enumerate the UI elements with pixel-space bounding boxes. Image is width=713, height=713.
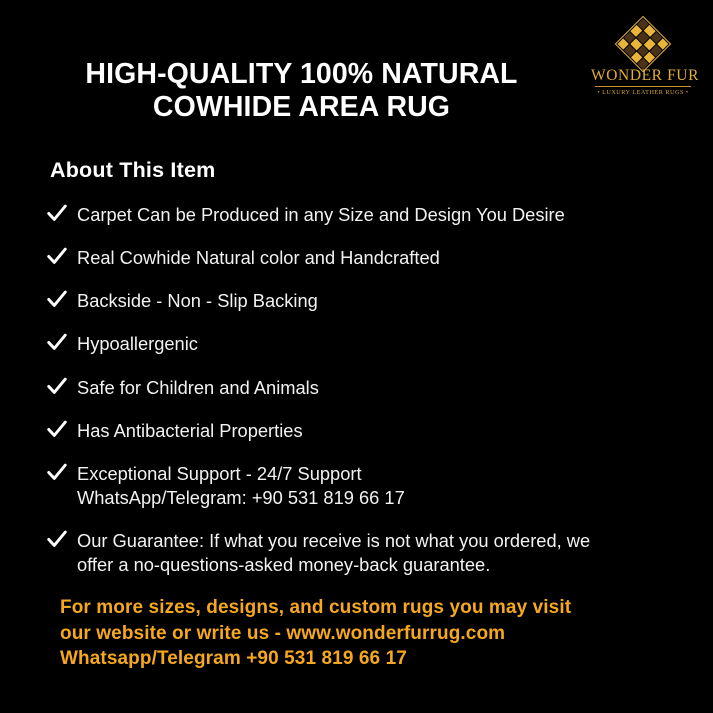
check-icon	[46, 331, 68, 353]
footer-line-1: For more sizes, designs, and custom rugs…	[60, 595, 571, 621]
list-item-label: Hypoallergenic	[77, 333, 198, 354]
list-item: Carpet Can be Produced in any Size and D…	[44, 203, 684, 227]
check-icon	[46, 418, 68, 440]
list-item-label: Has Antibacterial Properties	[77, 420, 303, 441]
check-icon	[46, 461, 68, 483]
feature-list: Carpet Can be Produced in any Size and D…	[44, 203, 684, 596]
list-item: Backside - Non - Slip Backing	[44, 289, 684, 313]
page-title: HIGH-QUALITY 100% NATURAL COWHIDE AREA R…	[0, 58, 713, 124]
footer-line-2: our website or write us - www.wonderfurr…	[60, 621, 571, 647]
list-item: Our Guarantee: If what you receive is no…	[44, 529, 684, 577]
about-this-item-heading: About This Item	[50, 158, 215, 183]
list-item-label-line2: WhatsApp/Telegram: +90 531 819 66 17	[77, 486, 684, 510]
list-item-label: Exceptional Support - 24/7 Support	[77, 463, 362, 484]
footer-line-3: Whatsapp/Telegram +90 531 819 66 17	[60, 646, 571, 672]
list-item: Hypoallergenic	[44, 332, 684, 356]
list-item: Exceptional Support - 24/7 Support Whats…	[44, 462, 684, 510]
list-item-label: Backside - Non - Slip Backing	[77, 290, 318, 311]
product-info-card: WONDER FUR • LUXURY LEATHER RUGS • HIGH-…	[0, 0, 713, 713]
check-icon	[46, 375, 68, 397]
check-icon	[46, 245, 68, 267]
list-item-label: Real Cowhide Natural color and Handcraft…	[77, 247, 440, 268]
check-icon	[46, 528, 68, 550]
list-item: Has Antibacterial Properties	[44, 419, 684, 443]
list-item: Real Cowhide Natural color and Handcraft…	[44, 246, 684, 270]
list-item-label: Safe for Children and Animals	[77, 377, 319, 398]
list-item: Safe for Children and Animals	[44, 376, 684, 400]
list-item-label: Carpet Can be Produced in any Size and D…	[77, 204, 565, 225]
check-icon	[46, 288, 68, 310]
footer-contact-block: For more sizes, designs, and custom rugs…	[60, 595, 571, 672]
list-item-label-line2: offer a no-questions-asked money-back gu…	[77, 553, 684, 577]
check-icon	[46, 202, 68, 224]
list-item-label: Our Guarantee: If what you receive is no…	[77, 530, 590, 551]
